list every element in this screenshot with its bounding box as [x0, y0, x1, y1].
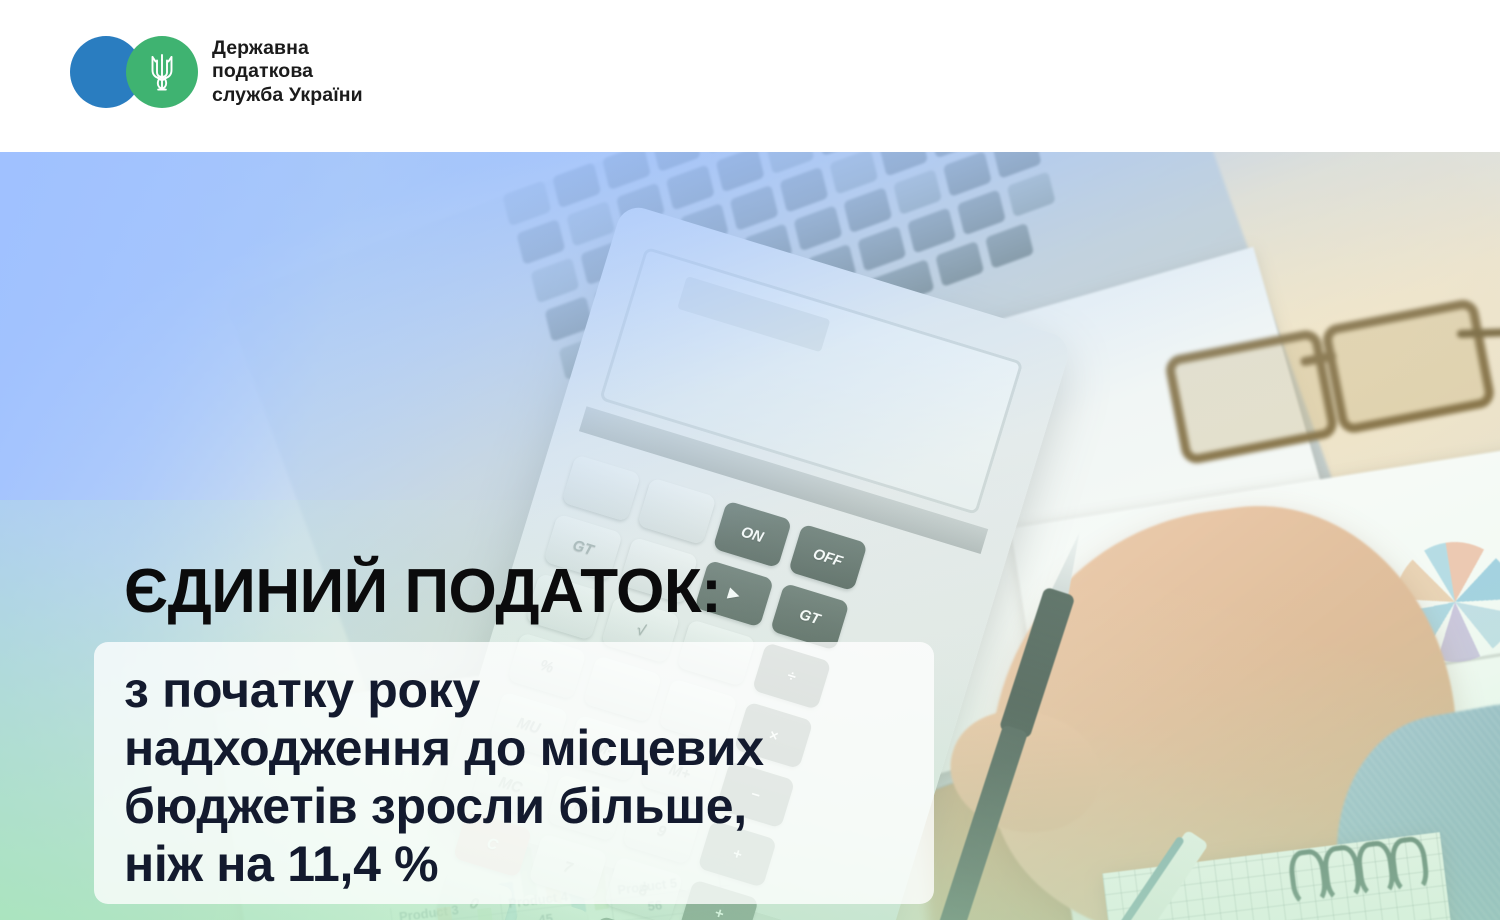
headline-title: ЄДИНИЙ ПОДАТОК:	[124, 558, 721, 626]
ukraine-trident-icon	[146, 50, 178, 94]
logo-marks	[70, 36, 198, 108]
hero-banner: ONOFF GT▶GT √÷ %× MUM-M+− MCMR9+ C78+ 01…	[0, 152, 1500, 920]
poster: Державна податкова служба України	[0, 0, 1500, 920]
organization-logo: Державна податкова служба України	[70, 36, 363, 108]
logo-organization-name: Державна податкова служба України	[212, 37, 363, 108]
header-band: Державна податкова служба України	[0, 0, 1500, 152]
body-text: з початку року надходження до місцевих б…	[124, 661, 924, 893]
